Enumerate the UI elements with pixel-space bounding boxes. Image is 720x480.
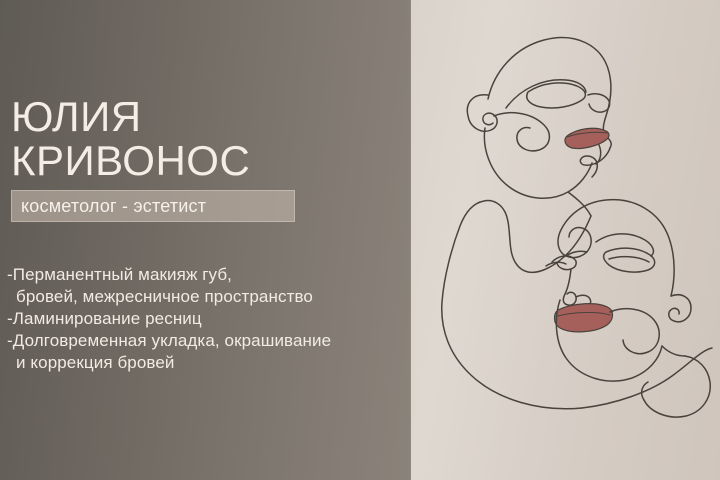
lower-eye-right-path [604,248,655,272]
service-line: -Долговременная укладка, окрашивание [7,330,407,352]
lower-lips-shape [554,304,612,332]
lower-nose-path [563,269,576,305]
lower-neck-path [662,346,685,356]
lower-shoulder-a-path [582,348,712,408]
service-line: -Перманентный макияж губ, [7,264,407,286]
upper-eye2-path [588,94,610,112]
line-art-illustration [410,0,720,480]
service-line: и коррекция бровей [7,352,407,374]
business-card: ЮЛИЯ КРИВОНОС косметолог - эстетист -Пер… [0,0,720,480]
upper-lips-shape [565,128,609,148]
lower-cheek-path [610,309,659,354]
upper-ear-path [467,95,497,131]
profession-badge: косметолог - эстетист [11,190,295,222]
upper-nose-path [580,148,610,177]
lower-forehead-path [558,228,591,258]
service-line: -Ламинирование ресниц [7,308,407,330]
background-dark-panel [0,0,411,480]
page-title-last-name: КРИВОНОС [11,140,250,182]
upper-cheek-path [494,113,549,151]
upper-eye-path [527,83,586,108]
services-list: -Перманентный макияж губ, бровей, межрес… [7,264,407,374]
lower-ear-path [669,295,691,322]
lower-eye-right-lash [609,257,649,262]
service-line: бровей, межресничное пространство [7,286,407,308]
page-title-first-name: ЮЛИЯ [11,96,142,138]
lower-head-top-path [560,200,674,296]
profession-badge-label: косметолог - эстетист [12,196,206,217]
